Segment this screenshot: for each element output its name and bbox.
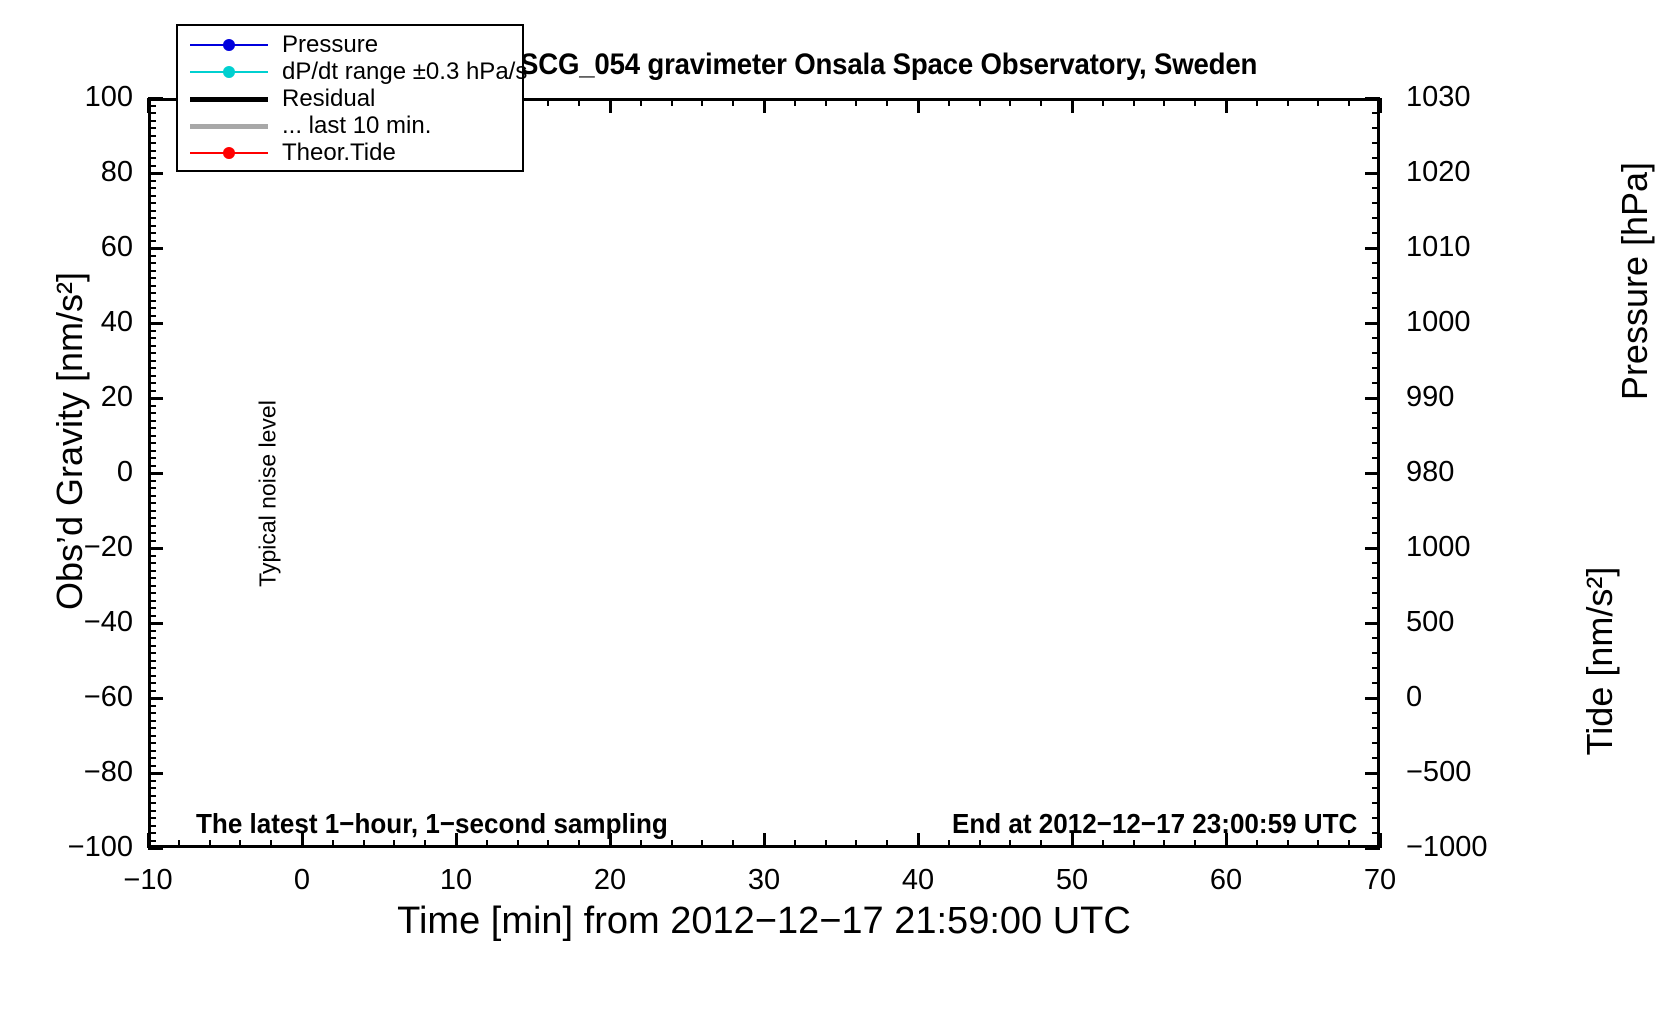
y-tick-minor-right bbox=[1372, 472, 1380, 474]
y-tick-minor-right bbox=[1372, 817, 1380, 819]
y-tick-major-left bbox=[148, 397, 163, 400]
y-tick-minor-right bbox=[1372, 577, 1380, 579]
y-tick-minor-left bbox=[148, 712, 156, 714]
y-tick-minor-left bbox=[148, 240, 156, 242]
y-tick-minor-left bbox=[148, 742, 156, 744]
y-tick-minor-left bbox=[148, 502, 156, 504]
x-tick-minor bbox=[855, 840, 857, 848]
y-tick-label-gravity: 80 bbox=[13, 158, 133, 187]
y-tick-minor-left bbox=[148, 765, 156, 767]
y-tick-minor-left bbox=[148, 382, 156, 384]
y-tick-minor-left bbox=[148, 225, 156, 227]
y-tick-minor-left bbox=[148, 750, 156, 752]
y-tick-minor-left bbox=[148, 457, 156, 459]
y-tick-minor-left bbox=[148, 142, 156, 144]
y-tick-label-pressure: 990 bbox=[1406, 383, 1536, 412]
x-tick-major-top bbox=[1071, 98, 1074, 113]
x-tick-label: 10 bbox=[396, 866, 516, 895]
y-tick-minor-left bbox=[148, 135, 156, 137]
x-tick-minor-top bbox=[1163, 98, 1165, 106]
x-tick-major bbox=[147, 833, 150, 848]
x-tick-minor bbox=[640, 840, 642, 848]
typical-noise-level-label: Typical noise level bbox=[255, 394, 282, 594]
legend-key-dpdt bbox=[186, 62, 272, 82]
y-tick-minor-right bbox=[1372, 262, 1380, 264]
x-tick-minor bbox=[794, 840, 796, 848]
y-tick-minor-right bbox=[1372, 757, 1380, 759]
y-tick-minor-left bbox=[148, 277, 156, 279]
y-tick-minor-right bbox=[1372, 622, 1380, 624]
legend-key-pressure bbox=[186, 35, 272, 55]
y-tick-minor-left bbox=[148, 435, 156, 437]
x-tick-minor bbox=[1256, 840, 1258, 848]
y-tick-minor-left bbox=[148, 337, 156, 339]
y-tick-minor-right bbox=[1372, 517, 1380, 519]
y-tick-minor-right bbox=[1372, 412, 1380, 414]
x-tick-minor bbox=[363, 840, 365, 848]
y-tick-minor-left bbox=[148, 757, 156, 759]
y-tick-minor-left bbox=[148, 217, 156, 219]
y-tick-minor-left bbox=[148, 345, 156, 347]
x-tick-minor bbox=[1009, 840, 1011, 848]
y-tick-minor-left bbox=[148, 270, 156, 272]
y-tick-label-pressure: 1030 bbox=[1406, 83, 1536, 112]
y-tick-label-gravity: 20 bbox=[13, 383, 133, 412]
y-tick-minor-left bbox=[148, 427, 156, 429]
y-tick-label-gravity: −20 bbox=[13, 533, 133, 562]
y-tick-minor-right bbox=[1372, 442, 1380, 444]
y-tick-minor-right bbox=[1372, 157, 1380, 159]
y-tick-label-tide: 0 bbox=[1406, 683, 1546, 712]
x-tick-minor bbox=[979, 840, 981, 848]
y-tick-minor-left bbox=[148, 577, 156, 579]
x-tick-minor-top bbox=[701, 98, 703, 106]
y-tick-minor-right bbox=[1372, 772, 1380, 774]
y-tick-minor-left bbox=[148, 795, 156, 797]
y-tick-minor-left bbox=[148, 315, 156, 317]
y-tick-minor-left bbox=[148, 540, 156, 542]
x-tick-minor bbox=[948, 840, 950, 848]
x-tick-minor bbox=[332, 840, 334, 848]
x-tick-minor-top bbox=[1040, 98, 1042, 106]
y-tick-minor-left bbox=[148, 292, 156, 294]
x-tick-minor-top bbox=[1256, 98, 1258, 106]
legend-item-pressure[interactable]: Pressure bbox=[186, 31, 514, 58]
x-tick-major-top bbox=[147, 98, 150, 113]
legend-item-dpdt[interactable]: dP/dt range ±0.3 hPa/s bbox=[186, 58, 514, 85]
y-tick-minor-right bbox=[1372, 802, 1380, 804]
x-tick-minor bbox=[424, 840, 426, 848]
y-tick-minor-left bbox=[148, 600, 156, 602]
y-tick-label-gravity: −40 bbox=[13, 608, 133, 637]
x-tick-major-top bbox=[763, 98, 766, 113]
y-tick-minor-right bbox=[1372, 337, 1380, 339]
sampling-note: The latest 1−hour, 1−second sampling bbox=[196, 808, 668, 840]
y-tick-minor-left bbox=[148, 667, 156, 669]
y-tick-minor-left bbox=[148, 442, 156, 444]
legend[interactable]: Pressure dP/dt range ±0.3 hPa/s Residual… bbox=[176, 24, 524, 172]
x-tick-minor-top bbox=[732, 98, 734, 106]
legend-key-theortide bbox=[186, 143, 272, 163]
y-tick-minor-left bbox=[148, 652, 156, 654]
x-tick-label: 20 bbox=[550, 866, 670, 895]
y-tick-minor-right bbox=[1372, 607, 1380, 609]
y-tick-minor-right bbox=[1372, 712, 1380, 714]
y-tick-minor-right bbox=[1372, 247, 1380, 249]
x-tick-minor-top bbox=[1348, 98, 1350, 106]
y-tick-minor-right bbox=[1372, 277, 1380, 279]
x-tick-minor bbox=[578, 840, 580, 848]
y-tick-minor-right bbox=[1372, 667, 1380, 669]
y-tick-minor-left bbox=[148, 255, 156, 257]
y-tick-minor-left bbox=[148, 532, 156, 534]
y-tick-minor-left bbox=[148, 817, 156, 819]
y-tick-minor-left bbox=[148, 390, 156, 392]
y-tick-minor-right bbox=[1372, 682, 1380, 684]
y-tick-major-left bbox=[148, 772, 163, 775]
chart-title: SCG_054 gravimeter Onsala Space Observat… bbox=[520, 48, 1257, 82]
y-tick-label-gravity: −60 bbox=[13, 683, 133, 712]
y-tick-minor-left bbox=[148, 232, 156, 234]
y-tick-minor-left bbox=[148, 787, 156, 789]
y-tick-minor-right bbox=[1372, 127, 1380, 129]
y-tick-minor-left bbox=[148, 262, 156, 264]
y-tick-minor-right bbox=[1372, 532, 1380, 534]
x-tick-minor bbox=[393, 840, 395, 848]
y-tick-minor-right bbox=[1372, 187, 1380, 189]
y-tick-minor-right bbox=[1372, 397, 1380, 399]
legend-item-theortide[interactable]: Theor.Tide bbox=[186, 139, 514, 166]
y-tick-minor-left bbox=[148, 120, 156, 122]
x-tick-minor-top bbox=[1102, 98, 1104, 106]
y-tick-minor-left bbox=[148, 735, 156, 737]
y-tick-minor-left bbox=[148, 180, 156, 182]
x-tick-minor-top bbox=[1317, 98, 1319, 106]
y-tick-minor-right bbox=[1372, 637, 1380, 639]
y-tick-minor-right bbox=[1372, 142, 1380, 144]
y-tick-minor-right bbox=[1372, 382, 1380, 384]
y-tick-minor-right bbox=[1372, 562, 1380, 564]
x-tick-major-top bbox=[1379, 98, 1382, 113]
y-tick-major-left bbox=[148, 472, 163, 475]
x-tick-major-top bbox=[609, 98, 612, 113]
y-tick-minor-right bbox=[1372, 427, 1380, 429]
y-tick-minor-right bbox=[1372, 217, 1380, 219]
legend-label-residual: Residual bbox=[282, 87, 375, 111]
y-tick-minor-right bbox=[1372, 172, 1380, 174]
x-tick-minor bbox=[178, 840, 180, 848]
x-tick-label: 70 bbox=[1320, 866, 1440, 895]
y-tick-minor-left bbox=[148, 562, 156, 564]
y-tick-minor-right bbox=[1372, 652, 1380, 654]
y-tick-minor-left bbox=[148, 307, 156, 309]
legend-label-last10min: ... last 10 min. bbox=[282, 114, 431, 138]
plot-frame bbox=[148, 98, 1380, 848]
y-tick-minor-right bbox=[1372, 487, 1380, 489]
y-tick-label-pressure: 1000 bbox=[1406, 308, 1536, 337]
x-tick-minor-top bbox=[1287, 98, 1289, 106]
x-tick-minor bbox=[825, 840, 827, 848]
y-tick-minor-left bbox=[148, 375, 156, 377]
x-tick-minor-top bbox=[578, 98, 580, 106]
y-tick-minor-right bbox=[1372, 367, 1380, 369]
y-tick-minor-left bbox=[148, 802, 156, 804]
y-tick-minor-left bbox=[148, 202, 156, 204]
gravimeter-chart-figure: SCG_054 gravimeter Onsala Space Observat… bbox=[0, 0, 1676, 1020]
x-tick-minor bbox=[270, 840, 272, 848]
y-tick-minor-left bbox=[148, 585, 156, 587]
y-tick-minor-left bbox=[148, 352, 156, 354]
x-tick-minor-top bbox=[640, 98, 642, 106]
x-tick-minor bbox=[1194, 840, 1196, 848]
y-tick-minor-left bbox=[148, 300, 156, 302]
x-tick-minor bbox=[1348, 840, 1350, 848]
y-tick-minor-left bbox=[148, 450, 156, 452]
x-tick-minor bbox=[732, 840, 734, 848]
y-tick-minor-left bbox=[148, 645, 156, 647]
y-axis-label-pressure: Pressure [hPa] bbox=[1614, 71, 1656, 491]
x-tick-minor-top bbox=[547, 98, 549, 106]
x-tick-minor bbox=[547, 840, 549, 848]
y-tick-minor-right bbox=[1372, 502, 1380, 504]
x-tick-minor bbox=[886, 840, 888, 848]
y-tick-minor-right bbox=[1372, 547, 1380, 549]
y-tick-minor-left bbox=[148, 825, 156, 827]
x-tick-minor bbox=[486, 840, 488, 848]
y-tick-minor-left bbox=[148, 420, 156, 422]
x-tick-minor-top bbox=[825, 98, 827, 106]
legend-label-theortide: Theor.Tide bbox=[282, 141, 396, 165]
y-tick-minor-right bbox=[1372, 307, 1380, 309]
y-tick-minor-left bbox=[148, 495, 156, 497]
y-tick-minor-right bbox=[1372, 742, 1380, 744]
y-tick-minor-left bbox=[148, 615, 156, 617]
x-tick-minor-top bbox=[855, 98, 857, 106]
y-tick-minor-left bbox=[148, 330, 156, 332]
y-tick-label-pressure: 1020 bbox=[1406, 158, 1536, 187]
legend-key-last10min bbox=[186, 116, 272, 136]
y-tick-minor-left bbox=[148, 465, 156, 467]
y-tick-minor-right bbox=[1372, 292, 1380, 294]
x-tick-minor bbox=[1040, 840, 1042, 848]
y-tick-label-gravity: 40 bbox=[13, 308, 133, 337]
y-tick-minor-left bbox=[148, 210, 156, 212]
y-tick-minor-right bbox=[1372, 727, 1380, 729]
y-tick-minor-left bbox=[148, 727, 156, 729]
y-tick-major-left bbox=[148, 247, 163, 250]
y-tick-minor-left bbox=[148, 367, 156, 369]
y-tick-minor-left bbox=[148, 592, 156, 594]
y-tick-minor-left bbox=[148, 682, 156, 684]
y-tick-minor-left bbox=[148, 607, 156, 609]
y-tick-minor-left bbox=[148, 705, 156, 707]
y-tick-minor-right bbox=[1372, 232, 1380, 234]
y-tick-major-left bbox=[148, 172, 163, 175]
y-tick-minor-left bbox=[148, 405, 156, 407]
x-tick-label: 0 bbox=[242, 866, 362, 895]
x-tick-minor bbox=[671, 840, 673, 848]
y-tick-minor-left bbox=[148, 570, 156, 572]
y-tick-minor-left bbox=[148, 285, 156, 287]
y-axis-label-tide: Tide [nm/s²] bbox=[1579, 496, 1621, 826]
y-tick-minor-left bbox=[148, 555, 156, 557]
y-tick-minor-right bbox=[1372, 592, 1380, 594]
y-tick-label-gravity: −100 bbox=[13, 833, 133, 862]
y-tick-major-left bbox=[148, 847, 163, 850]
y-tick-minor-left bbox=[148, 660, 156, 662]
y-tick-minor-left bbox=[148, 187, 156, 189]
x-tick-minor-top bbox=[948, 98, 950, 106]
x-tick-minor bbox=[209, 840, 211, 848]
y-tick-label-pressure: 1010 bbox=[1406, 233, 1536, 262]
y-tick-minor-left bbox=[148, 720, 156, 722]
y-tick-minor-left bbox=[148, 157, 156, 159]
y-tick-minor-left bbox=[148, 637, 156, 639]
y-tick-minor-right bbox=[1372, 202, 1380, 204]
y-tick-major-left bbox=[148, 622, 163, 625]
y-tick-minor-right bbox=[1372, 697, 1380, 699]
y-tick-minor-left bbox=[148, 780, 156, 782]
y-tick-minor-left bbox=[148, 127, 156, 129]
y-tick-minor-left bbox=[148, 480, 156, 482]
x-tick-major bbox=[763, 833, 766, 848]
y-tick-minor-left bbox=[148, 165, 156, 167]
y-tick-minor-left bbox=[148, 630, 156, 632]
x-tick-major bbox=[917, 833, 920, 848]
x-tick-minor bbox=[1133, 840, 1135, 848]
x-tick-minor-top bbox=[1133, 98, 1135, 106]
y-tick-minor-left bbox=[148, 360, 156, 362]
x-tick-major bbox=[1379, 833, 1382, 848]
x-tick-minor bbox=[1102, 840, 1104, 848]
x-tick-major-top bbox=[1225, 98, 1228, 113]
y-tick-major-left bbox=[148, 322, 163, 325]
y-tick-major-left bbox=[148, 97, 163, 100]
x-tick-minor-top bbox=[794, 98, 796, 106]
y-tick-minor-right bbox=[1372, 787, 1380, 789]
y-tick-label-tide: −1000 bbox=[1406, 833, 1546, 862]
x-tick-minor bbox=[1287, 840, 1289, 848]
x-tick-label: 40 bbox=[858, 866, 978, 895]
x-tick-minor bbox=[701, 840, 703, 848]
y-tick-minor-right bbox=[1372, 352, 1380, 354]
y-tick-minor-left bbox=[148, 195, 156, 197]
x-tick-minor bbox=[239, 840, 241, 848]
x-tick-minor-top bbox=[1009, 98, 1011, 106]
x-tick-minor-top bbox=[979, 98, 981, 106]
legend-label-dpdt: dP/dt range ±0.3 hPa/s bbox=[282, 60, 527, 84]
y-tick-minor-right bbox=[1372, 457, 1380, 459]
x-tick-minor-top bbox=[671, 98, 673, 106]
y-tick-label-gravity: 100 bbox=[13, 83, 133, 112]
y-tick-label-tide: −500 bbox=[1406, 758, 1546, 787]
y-tick-minor-left bbox=[148, 510, 156, 512]
x-tick-minor bbox=[1317, 840, 1319, 848]
x-tick-label: 30 bbox=[704, 866, 824, 895]
legend-label-pressure: Pressure bbox=[282, 33, 378, 57]
y-tick-minor-left bbox=[148, 675, 156, 677]
y-tick-label-gravity: 60 bbox=[13, 233, 133, 262]
y-tick-label-tide: 1000 bbox=[1406, 533, 1546, 562]
y-tick-minor-left bbox=[148, 517, 156, 519]
y-tick-minor-left bbox=[148, 412, 156, 414]
y-tick-major-left bbox=[148, 547, 163, 550]
y-tick-minor-left bbox=[148, 487, 156, 489]
y-tick-label-tide: 500 bbox=[1406, 608, 1546, 637]
y-tick-label-gravity: −80 bbox=[13, 758, 133, 787]
y-tick-minor-left bbox=[148, 810, 156, 812]
x-tick-label: −10 bbox=[88, 866, 208, 895]
legend-item-residual[interactable]: Residual bbox=[186, 85, 514, 112]
y-tick-minor-left bbox=[148, 150, 156, 152]
x-tick-minor bbox=[517, 840, 519, 848]
x-tick-label: 60 bbox=[1166, 866, 1286, 895]
x-tick-minor bbox=[1163, 840, 1165, 848]
end-time-note: End at 2012−12−17 23:00:59 UTC bbox=[952, 808, 1357, 840]
x-tick-label: 50 bbox=[1012, 866, 1132, 895]
legend-item-last10min[interactable]: ... last 10 min. bbox=[186, 112, 514, 139]
x-tick-minor-top bbox=[886, 98, 888, 106]
y-tick-minor-left bbox=[148, 525, 156, 527]
y-tick-minor-left bbox=[148, 690, 156, 692]
y-tick-minor-right bbox=[1372, 322, 1380, 324]
y-tick-major-left bbox=[148, 697, 163, 700]
x-tick-minor-top bbox=[1194, 98, 1196, 106]
legend-key-residual bbox=[186, 89, 272, 109]
y-tick-label-pressure: 980 bbox=[1406, 458, 1536, 487]
x-axis-label: Time [min] from 2012−12−17 21:59:00 UTC bbox=[148, 900, 1380, 943]
y-tick-label-gravity: 0 bbox=[13, 458, 133, 487]
x-tick-major-top bbox=[917, 98, 920, 113]
